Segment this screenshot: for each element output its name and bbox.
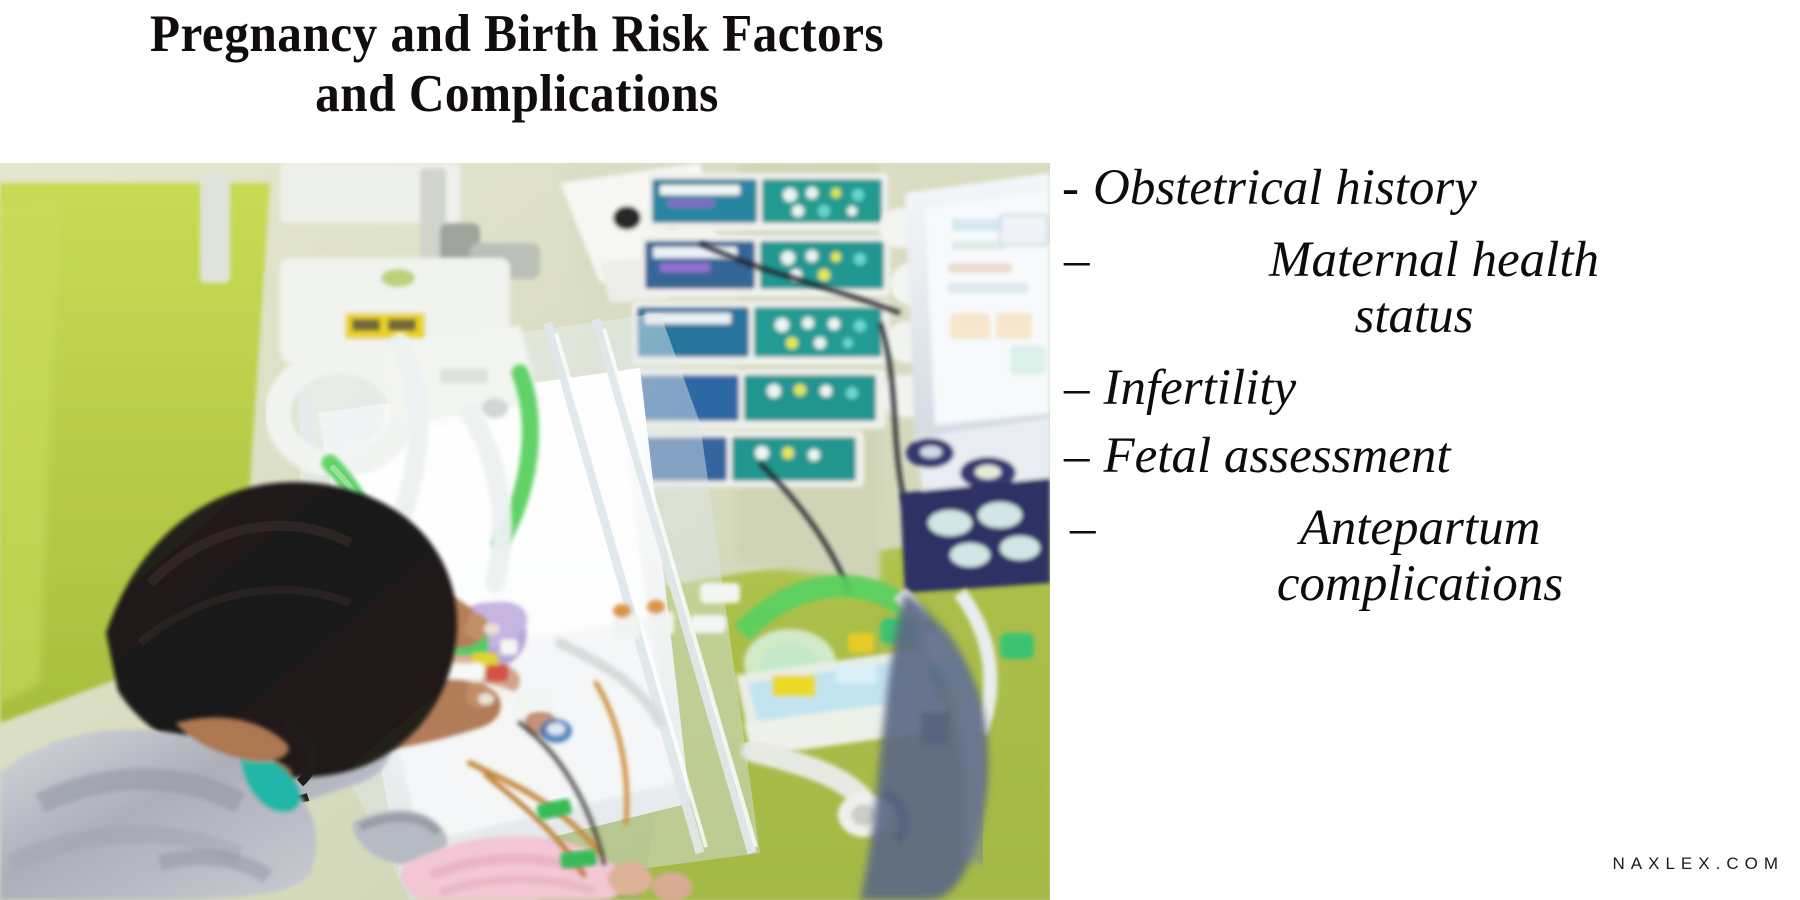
bullet-dash-icon: - [1062, 160, 1079, 216]
nicu-photo [0, 163, 1050, 900]
list-item-label: Maternal health [1269, 232, 1599, 288]
list-item-label-wrap: complications [1070, 556, 1770, 612]
list-item-label: Antepartum [1300, 500, 1541, 556]
list-item-infertility: –Infertility [1064, 360, 1296, 416]
bullet-dash-icon: – [1070, 500, 1096, 556]
bullet-dash-icon: – [1064, 360, 1090, 416]
list-item-maternal-health-status: – Maternal health status [1064, 232, 1764, 344]
list-item-label: Fetal assessment [1104, 428, 1451, 484]
list-item-label: Obstetrical history [1093, 160, 1477, 216]
list-item-obstetrical-history: -Obstetrical history [1062, 160, 1477, 216]
nicu-photo-illustration [0, 163, 1050, 900]
risk-factor-list: -Obstetrical history – Maternal health s… [1050, 150, 1800, 790]
title-line-2: and Complications [31, 64, 1004, 124]
bullet-dash-icon: – [1064, 428, 1090, 484]
watermark: NAXLEX.COM [1613, 854, 1784, 874]
list-item-label: Infertility [1104, 360, 1297, 416]
title-line-1: Pregnancy and Birth Risk Factors [31, 4, 1004, 64]
slide-root: Pregnancy and Birth Risk Factors and Com… [0, 0, 1800, 900]
list-item-fetal-assessment: –Fetal assessment [1064, 428, 1451, 484]
bullet-dash-icon: – [1064, 232, 1090, 288]
list-item-label-wrap: status [1064, 288, 1764, 344]
page-title: Pregnancy and Birth Risk Factors and Com… [0, 4, 1040, 154]
list-item-antepartum-complications: – Antepartum complications [1070, 500, 1770, 612]
